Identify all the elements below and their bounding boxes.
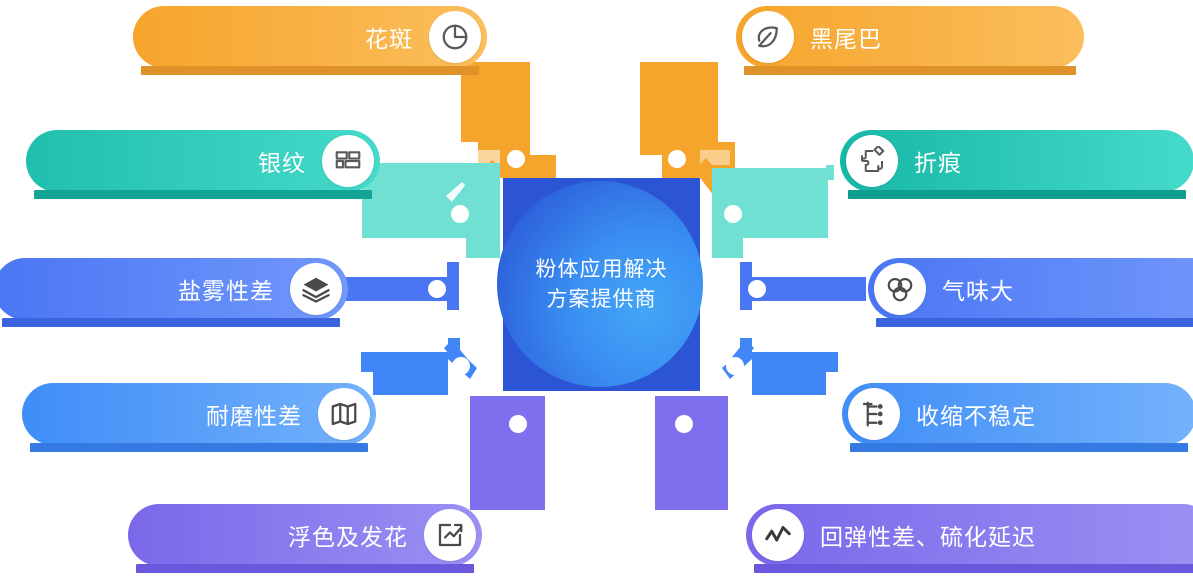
node-label-n2: 银纹	[258, 144, 306, 178]
pill-shadow	[34, 190, 372, 199]
node-pill-n8[interactable]: 气味大	[868, 258, 1193, 320]
node-pill-n7[interactable]: 折痕	[840, 130, 1193, 192]
node-pill-n3[interactable]: 盐雾性差	[0, 258, 348, 320]
connector-n9	[722, 338, 838, 395]
node-label-n7: 折痕	[914, 144, 962, 178]
open-book-icon	[318, 388, 370, 440]
pill-shadow	[141, 66, 479, 75]
node-label-n8: 气味大	[942, 272, 1014, 306]
node-pill-n9[interactable]: 收缩不稳定	[842, 383, 1193, 445]
layers-icon	[290, 263, 342, 315]
pill-shadow	[848, 190, 1186, 199]
node-label-n3: 盐雾性差	[178, 272, 274, 306]
node-pill-n5[interactable]: 浮色及发花	[128, 504, 482, 566]
hub-title: 粉体应用解决 方案提供商	[503, 178, 700, 391]
node-pill-n1[interactable]: 花斑	[133, 6, 487, 68]
brick-wall-icon	[322, 135, 374, 187]
zigzag-icon	[752, 509, 804, 561]
pill-shadow	[754, 564, 1193, 573]
pill-shadow	[30, 443, 368, 452]
node-label-n10: 回弹性差、硫化延迟	[820, 518, 1036, 552]
center-hub: 粉体应用解决 方案提供商	[503, 178, 700, 391]
connector-n2	[362, 163, 500, 258]
pill-shadow	[136, 564, 474, 573]
node-pill-n6[interactable]: 黑尾巴	[736, 6, 1084, 68]
diagram-canvas: 粉体应用解决 方案提供商 花斑 银纹 盐雾性差	[0, 0, 1193, 577]
recycle-icon	[874, 263, 926, 315]
node-label-n1: 花斑	[365, 20, 413, 54]
connector-n3	[333, 262, 459, 310]
node-label-n4: 耐磨性差	[206, 397, 302, 431]
node-label-n5: 浮色及发花	[288, 518, 408, 552]
node-pill-n10[interactable]: 回弹性差、硫化延迟	[746, 504, 1193, 566]
trend-box-icon	[424, 509, 476, 561]
pill-shadow	[2, 318, 340, 327]
node-label-n6: 黑尾巴	[810, 20, 882, 54]
pill-shadow	[744, 66, 1076, 75]
connector-n8	[740, 262, 866, 310]
connector-n10	[655, 396, 728, 510]
pill-shadow	[876, 318, 1193, 327]
connector-n4	[361, 338, 477, 395]
node-label-n9: 收缩不稳定	[916, 397, 1036, 431]
leaf-icon	[742, 11, 794, 63]
node-pill-n2[interactable]: 银纹	[26, 130, 380, 192]
pie-chart-icon	[429, 11, 481, 63]
connector-n5	[470, 396, 545, 510]
connector-n7	[712, 165, 834, 258]
pill-shadow	[850, 443, 1188, 452]
sitemap-icon	[848, 388, 900, 440]
node-pill-n4[interactable]: 耐磨性差	[22, 383, 376, 445]
puzzle-icon	[846, 135, 898, 187]
